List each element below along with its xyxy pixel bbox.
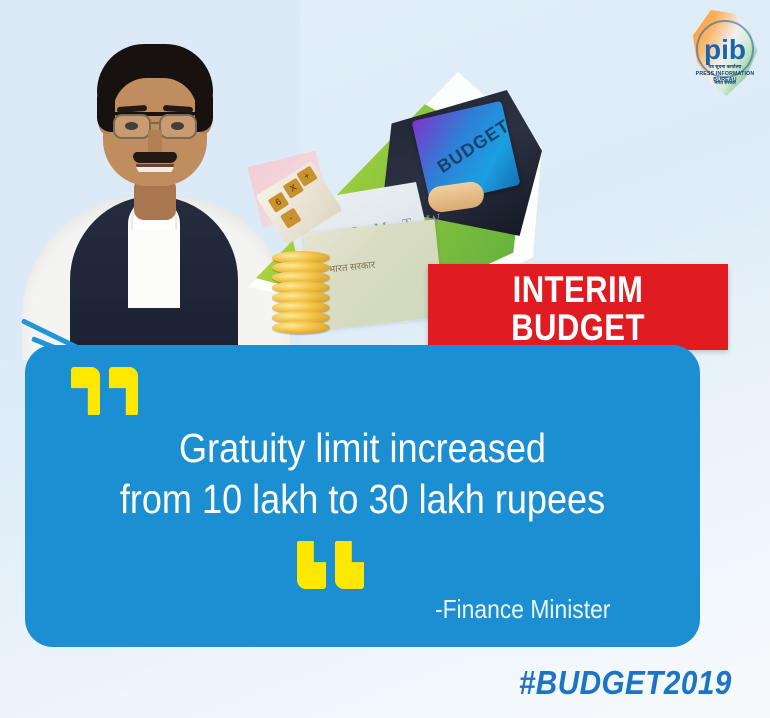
quote-attribution: -Finance Minister: [435, 594, 610, 625]
hashtag-label: #BUDGET2019: [519, 664, 732, 702]
budget-poster: BUDGET S M T W 6 X + - भारत सरकार INTERI…: [0, 0, 770, 718]
quote-line-2: from 10 lakh to 30 lakh rupees: [66, 474, 660, 525]
close-quote-icon: [297, 541, 364, 589]
portrait-chin: [130, 172, 180, 186]
briefcase-label: BUDGET: [434, 115, 514, 177]
quote-card: Gratuity limit increased from 10 lakh to…: [25, 345, 700, 647]
pib-subtitle-hindi: पत्र सूचना कार्यालय: [686, 64, 764, 70]
pib-subtitle-hindi-2: भारत सरकार: [686, 80, 764, 86]
quote-line-1: Gratuity limit increased: [66, 423, 660, 474]
portrait-eyeglass-right: [159, 114, 197, 139]
interim-budget-banner: INTERIM BUDGET 2019-20: [428, 264, 728, 350]
pib-logo: pib पत्र सूचना कार्यालय PRESS INFORMATIO…: [686, 8, 764, 100]
portrait-eyeglass-left: [113, 114, 151, 139]
pib-wordmark: pib: [686, 36, 764, 64]
portrait-mustache: [133, 152, 177, 163]
calculator-key-minus: -: [280, 208, 302, 229]
portrait-eyeglass-bridge: [151, 122, 159, 124]
collage-suit-sleeve: [530, 115, 611, 242]
calculator-key-6: 6: [268, 192, 290, 213]
open-quote-icon: [71, 367, 138, 415]
portrait-hair-temple-right: [195, 88, 213, 132]
banner-line-1: INTERIM BUDGET: [452, 271, 704, 346]
quote-text: Gratuity limit increased from 10 lakh to…: [66, 423, 660, 525]
